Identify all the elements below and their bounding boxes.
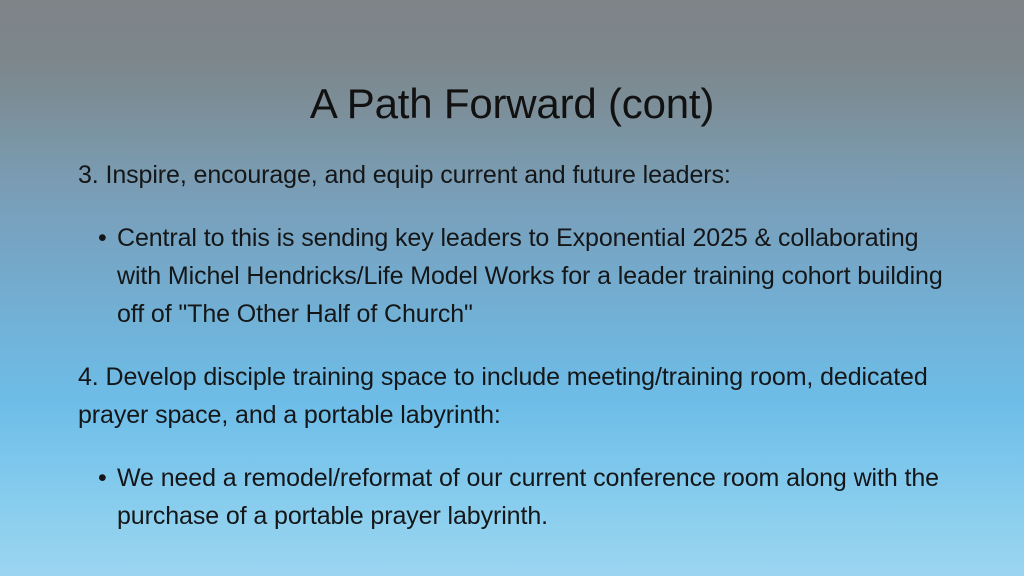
presentation-slide: A Path Forward (cont) 3. Inspire, encour…	[0, 0, 1024, 576]
page-title: A Path Forward (cont)	[310, 80, 714, 127]
bullet-item-2-label: We need a remodel/reformat of our curren…	[117, 459, 954, 535]
slide-body-content: 3. Inspire, encourage, and equip current…	[74, 156, 954, 560]
bullet-dot-icon: •	[98, 219, 107, 257]
bullet-item-1: • Central to this is sending key leaders…	[74, 219, 954, 333]
numbered-item-3: 3. Inspire, encourage, and equip current…	[74, 156, 954, 194]
bullet-dot-icon: •	[98, 459, 107, 497]
bullet-item-2: • We need a remodel/reformat of our curr…	[74, 459, 954, 535]
numbered-item-4: 4. Develop disciple training space to in…	[74, 358, 954, 434]
slide-title-area: A Path Forward (cont)	[0, 52, 1024, 155]
bullet-item-1-label: Central to this is sending key leaders t…	[117, 219, 954, 333]
